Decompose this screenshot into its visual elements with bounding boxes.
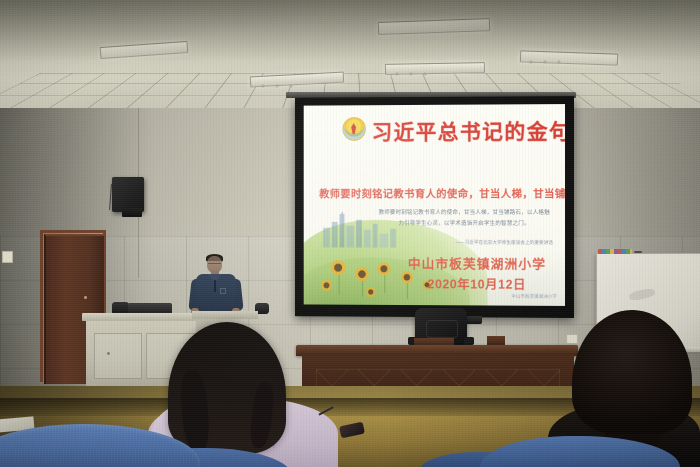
speaker-bracket [122,208,142,217]
wall-outlet [566,334,578,344]
slide-headline-quote: 教师要时刻铭记教书育人的使命，甘当人梯，甘当铺路石 [319,186,553,201]
school-emblem-icon [342,117,365,141]
office-chair-seam [426,320,458,338]
slide-title: 习近平总书记的金句 [372,116,565,147]
wall-speaker [112,177,144,212]
presenter-pocket [220,288,226,294]
sunflower-icon [378,262,391,275]
slide-date: 2020年10月12日 [397,273,557,293]
sunflower-icon [355,267,369,281]
slide-body-text: 教师要时刻铭记教书育人的使命，甘当人梯，甘当铺路石，以人格魅力引导学生心灵，以学… [378,208,552,231]
sunflower-icon [366,287,376,297]
presentation-slide: 习近平总书记的金句 教师要时刻铭记教书育人的使命，甘当人梯，甘当铺路石 教师要时… [304,104,565,306]
glasses-icon [208,263,221,267]
slide-school-name: 中山市板芙镇湖洲小学 [397,254,557,273]
projection-screen: 习近平总书记的金句 教师要时刻铭记教书育人的使命，甘当人梯，甘当铺路石 教师要时… [295,96,574,318]
podium-latch-icon[interactable] [107,352,110,355]
classroom-photo-scene: 习近平总书记的金句 教师要时刻铭记教书育人的使命，甘当人梯，甘当铺路石 教师要时… [0,0,700,467]
slide-attribution: ——习近平在北京大学师生座谈会上的重要讲话 [397,240,553,246]
whiteboard-smudge [628,287,655,301]
podium-top-surface [82,313,210,321]
door-knob-icon[interactable] [84,296,87,299]
office-chair-arm-right [464,337,474,345]
whiteboard-pen[interactable] [634,251,642,253]
podium-door-panel[interactable] [94,333,142,379]
presenter-placket [214,280,216,292]
sunflower-icon [331,260,346,275]
podium-side-surface [192,311,258,319]
sunflower-icon [321,280,332,291]
slide-footer-text: 中山市板芙镇湖洲小学 [450,293,557,300]
projected-slide-area: 习近平总书记的金句 教师要时刻铭记教书育人的使命，甘当人梯，甘当铺路石 教师要时… [304,104,565,306]
whiteboard-markers[interactable] [598,249,632,254]
light-switch-plate[interactable] [2,251,13,263]
